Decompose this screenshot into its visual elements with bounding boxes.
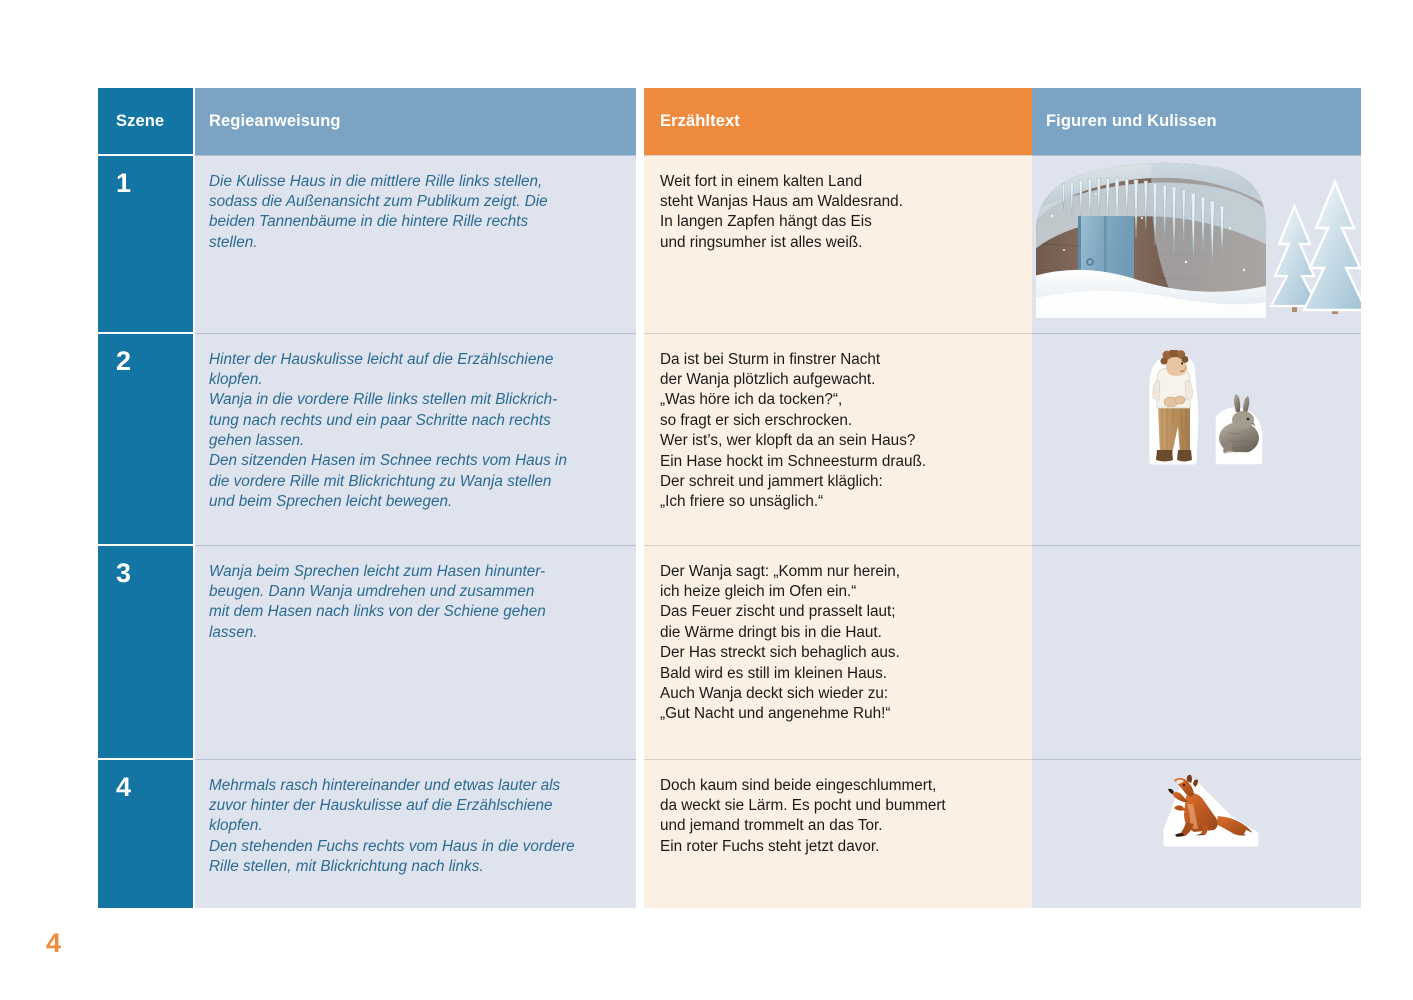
table-row: 1 Die Kulisse Haus in die mittlere Rille…	[98, 155, 1361, 333]
table-row: 2 Hinter der Hauskulisse leicht auf die …	[98, 333, 1361, 545]
direction-line: klopfen.	[209, 370, 618, 390]
direction-line: und beim Sprechen leicht bewegen.	[209, 492, 618, 512]
direction-line: tung nach rechts und ein paar Schritte n…	[209, 411, 618, 431]
narration-line: da weckt sie Lärm. Es pocht und bummert	[660, 796, 1018, 816]
narration-line: Bald wird es still im kleinen Haus.	[660, 664, 1018, 684]
column-gap	[636, 759, 644, 908]
direction-line: Hinter der Hauskulisse leicht auf die Er…	[209, 350, 618, 370]
header-gap	[636, 88, 644, 155]
direction-line: Den sitzenden Hasen im Schnee rechts vom…	[209, 451, 618, 471]
house-scenery-illustration	[1034, 158, 1361, 318]
narration-line: Auch Wanja deckt sich wieder zu:	[660, 684, 1018, 704]
direction-line: Die Kulisse Haus in die mittlere Rille l…	[209, 172, 618, 192]
narration-line: Wer ist’s, wer klopft da an sein Haus?	[660, 431, 1018, 451]
direction-cell: Hinter der Hauskulisse leicht auf die Er…	[194, 333, 636, 545]
table-body: 1 Die Kulisse Haus in die mittlere Rille…	[98, 155, 1361, 908]
direction-cell: Wanja beim Sprechen leicht zum Hasen hin…	[194, 545, 636, 759]
narration-line: Der Has streckt sich behaglich aus.	[660, 643, 1018, 663]
hare-figure-illustration	[1218, 394, 1260, 462]
narration-line: Ein Hase hockt im Schneesturm drauß.	[660, 452, 1018, 472]
scene-number: 4	[98, 759, 194, 908]
storyboard-table: Szene Regieanweisung Erzähltext Figuren …	[98, 88, 1361, 908]
direction-line: beiden Tannenbäume in die hintere Rille …	[209, 212, 618, 232]
direction-line: Wanja beim Sprechen leicht zum Hasen hin…	[209, 562, 618, 582]
direction-line: mit dem Hasen nach links von der Schiene…	[209, 602, 618, 622]
house-body	[1034, 158, 1266, 318]
figures-cell	[1032, 155, 1361, 333]
column-gap	[636, 333, 644, 545]
narration-line: Der schreit und jammert kläglich:	[660, 472, 1018, 492]
house-and-trees-svg	[1034, 158, 1361, 318]
direction-line: sodass die Außenansicht zum Publikum zei…	[209, 192, 618, 212]
narration-cell: Doch kaum sind beide eingeschlummert, da…	[644, 759, 1032, 908]
direction-cell: Mehrmals rasch hintereinander und etwas …	[194, 759, 636, 908]
narration-line: und ringsumher ist alles weiß.	[660, 233, 1018, 253]
wanja-and-hare-illustration	[1140, 350, 1280, 470]
figures-cell	[1032, 545, 1361, 759]
narration-line: und jemand trommelt an das Tor.	[660, 816, 1018, 836]
direction-line: beugen. Dann Wanja umdrehen und zusammen	[209, 582, 618, 602]
narration-line: Das Feuer zischt und prasselt laut;	[660, 602, 1018, 622]
narration-line: steht Wanjas Haus am Waldesrand.	[660, 192, 1018, 212]
direction-line: Mehrmals rasch hintereinander und etwas …	[209, 776, 618, 796]
narration-line: Da ist bei Sturm in finstrer Nacht	[660, 350, 1018, 370]
column-header-scene: Szene	[98, 88, 194, 155]
column-header-figures: Figuren und Kulissen	[1032, 88, 1361, 155]
direction-line: stellen.	[209, 233, 618, 253]
figures-cell	[1032, 333, 1361, 545]
direction-line: zuvor hinter der Hauskulisse auf die Erz…	[209, 796, 618, 816]
narration-line: der Wanja plötzlich aufgewacht.	[660, 370, 1018, 390]
narration-line: die Wärme dringt bis in die Haut.	[660, 623, 1018, 643]
scene-number: 2	[98, 333, 194, 545]
table-row: 4 Mehrmals rasch hintereinander und etwa…	[98, 759, 1361, 908]
wanja-hare-svg	[1140, 350, 1280, 470]
narration-line: In langen Zapfen hängt das Eis	[660, 212, 1018, 232]
narration-line: „Was höre ich da tocken?“,	[660, 390, 1018, 410]
page-number: 4	[46, 928, 61, 959]
direction-line: Wanja in die vordere Rille links stellen…	[209, 390, 618, 410]
direction-cell: Die Kulisse Haus in die mittlere Rille l…	[194, 155, 636, 333]
narration-line: Der Wanja sagt: „Komm nur herein,	[660, 562, 1018, 582]
table-row: 3 Wanja beim Sprechen leicht zum Hasen h…	[98, 545, 1361, 759]
narration-line: so fragt er sich erschrocken.	[660, 411, 1018, 431]
scene-number: 1	[98, 155, 194, 333]
narration-line: „Gut Nacht und angenehme Ruh!“	[660, 704, 1018, 724]
narration-line: ich heize gleich im Ofen ein.“	[660, 582, 1018, 602]
scene-number: 3	[98, 545, 194, 759]
figures-cell	[1032, 759, 1361, 908]
wanja-figure-illustration	[1152, 350, 1196, 462]
column-header-narration: Erzähltext	[644, 88, 1032, 155]
narration-line: Weit fort in einem kalten Land	[660, 172, 1018, 192]
narration-line: Doch kaum sind beide eingeschlummert,	[660, 776, 1018, 796]
direction-line: gehen lassen.	[209, 431, 618, 451]
fir-trees-illustration	[1271, 182, 1361, 314]
column-gap	[636, 545, 644, 759]
table-header-row: Szene Regieanweisung Erzähltext Figuren …	[98, 88, 1361, 155]
narration-cell: Der Wanja sagt: „Komm nur herein, ich he…	[644, 545, 1032, 759]
direction-line: lassen.	[209, 623, 618, 643]
narration-line: „Ich friere so unsäglich.“	[660, 492, 1018, 512]
narration-cell: Da ist bei Sturm in finstrer Nacht der W…	[644, 333, 1032, 545]
direction-line: Rille stellen, mit Blickrichtung nach li…	[209, 857, 618, 877]
fox-svg	[1160, 774, 1270, 850]
narration-line: Ein roter Fuchs steht jetzt davor.	[660, 837, 1018, 857]
direction-line: Den stehenden Fuchs rechts vom Haus in d…	[209, 837, 618, 857]
narration-cell: Weit fort in einem kalten Land steht Wan…	[644, 155, 1032, 333]
fox-figure-illustration	[1160, 774, 1270, 850]
direction-line: klopfen.	[209, 816, 618, 836]
column-header-direction: Regieanweisung	[194, 88, 636, 155]
direction-line: die vordere Rille mit Blickrichtung zu W…	[209, 472, 618, 492]
column-gap	[636, 155, 644, 333]
